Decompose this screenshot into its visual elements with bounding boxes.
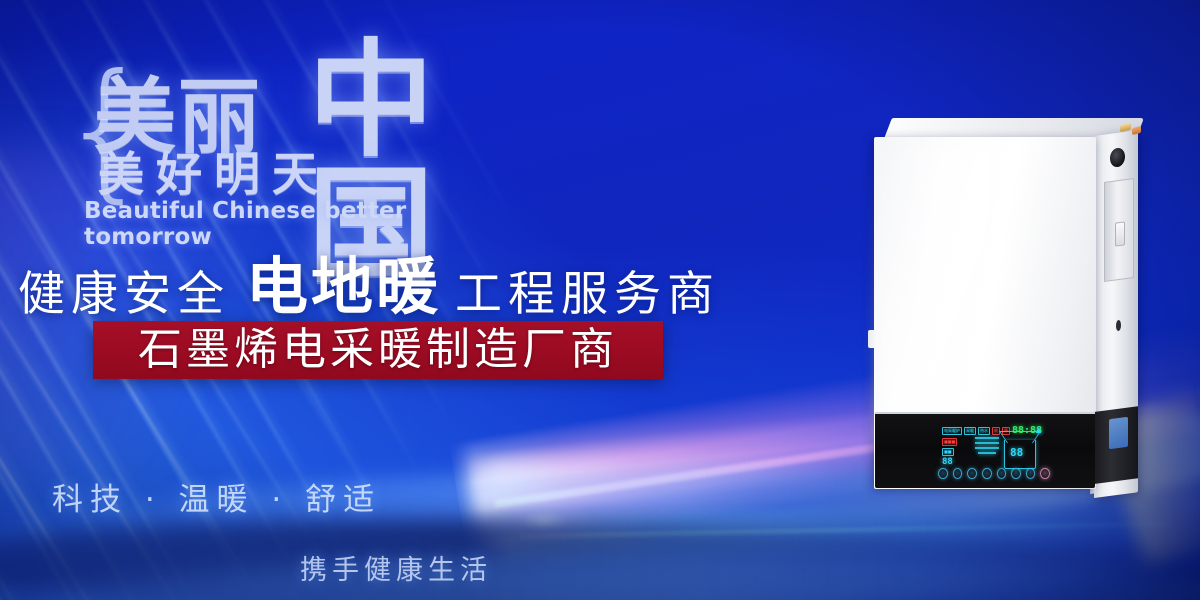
- tagline-secondary: 携手健康生活: [300, 548, 492, 587]
- lcd-label-mode-b: 热水: [978, 427, 990, 435]
- side-power-switch: [1115, 221, 1125, 246]
- light-ribbon-c: [0, 547, 1200, 600]
- headline-suffix: 工程服务商: [455, 271, 720, 318]
- cyan-core-line: [520, 521, 1180, 539]
- touch-button-lock[interactable]: [1026, 468, 1036, 479]
- headline: 健康安全 电地暖 工程服务商: [18, 256, 720, 318]
- logo-line-secondary: 美好明天: [98, 138, 330, 204]
- lcd-bar-2: [975, 442, 999, 444]
- touch-button-clock[interactable]: [997, 468, 1007, 479]
- touch-button-set[interactable]: [1011, 468, 1021, 479]
- touch-button-down[interactable]: [982, 468, 992, 479]
- touch-button-mode[interactable]: [953, 468, 963, 479]
- lcd-display: 电采暖炉 采暖 热水 故 障 88:88 ▲ ■■■ ■■ 88 88: [942, 426, 1046, 474]
- brand-logo: { 美丽 中国 美好明天 Beautiful Chinese better to…: [58, 52, 488, 222]
- lcd-bar-3: [975, 447, 999, 449]
- touch-button-up[interactable]: [967, 468, 977, 479]
- tagline-primary: 科技 · 温暖 · 舒适: [52, 474, 381, 519]
- house-icon: 88: [1004, 440, 1036, 469]
- lcd-label-mode-a: 采暖: [964, 427, 976, 435]
- lcd-alarm-row: ■■■: [942, 438, 957, 446]
- touch-button-menu[interactable]: [1040, 468, 1050, 479]
- headline-emphasis: 电地暖: [246, 256, 441, 318]
- red-banner-text: 石墨烯电采暖制造厂商: [138, 328, 618, 372]
- lcd-bar-1: [975, 437, 999, 439]
- side-blue-label: [1109, 417, 1128, 450]
- product-connector-nub: [868, 330, 877, 348]
- lcd-set-temp: 88: [942, 458, 953, 467]
- touch-button-power[interactable]: [938, 468, 948, 479]
- red-banner: 石墨烯电采暖制造厂商: [93, 321, 663, 379]
- light-burst-point: [468, 492, 618, 552]
- touch-button-row[interactable]: [938, 468, 1050, 479]
- product-image-wall-hung-boiler: 电采暖炉 采暖 热水 故 障 88:88 ▲ ■■■ ■■ 88 88: [866, 118, 1166, 518]
- lcd-room-temp: 88: [1010, 447, 1023, 458]
- pipe-connector-2: [1132, 126, 1141, 135]
- logo-english-subtitle: Beautiful Chinese better tomorrow: [84, 198, 488, 250]
- headline-prefix: 健康安全: [18, 271, 230, 318]
- light-ribbon-b: [0, 507, 1200, 600]
- lcd-status-row: ■■: [942, 448, 954, 456]
- lcd-bar-4: [978, 452, 996, 454]
- promo-banner: { 美丽 中国 美好明天 Beautiful Chinese better to…: [0, 0, 1200, 600]
- lcd-label-power: 电采暖炉: [942, 427, 962, 435]
